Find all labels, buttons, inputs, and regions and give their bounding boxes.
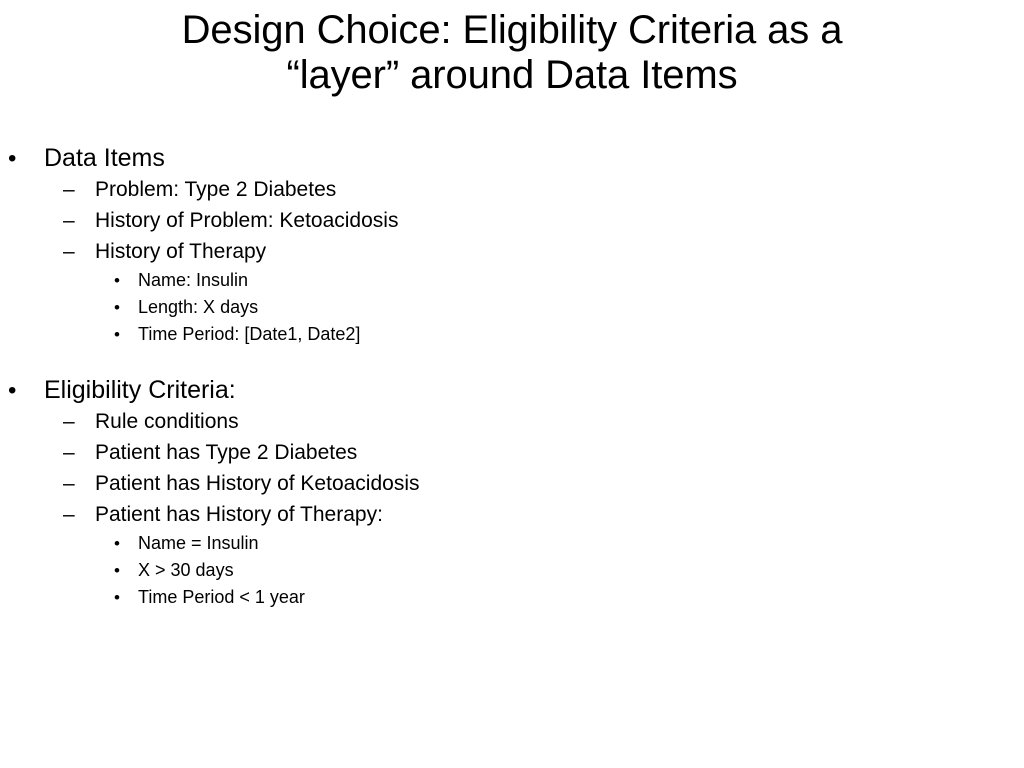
outline-item-level3: • X > 30 days (0, 557, 1024, 584)
bullet-dash-icon: – (63, 174, 95, 205)
bullet-dot-icon: • (8, 143, 44, 174)
outline-item-label: Rule conditions (95, 406, 239, 437)
bullet-dash-icon: – (63, 468, 95, 499)
outline-item-level1: • Eligibility Criteria: (0, 375, 1024, 406)
outline-item-level3: • Time Period: [Date1, Date2] (0, 321, 1024, 348)
outline-item-label: Data Items (44, 143, 165, 174)
outline-group-eligibility-criteria: • Eligibility Criteria: – Rule condition… (0, 375, 1024, 611)
outline-item-level3: • Name = Insulin (0, 530, 1024, 557)
outline-item-label: Eligibility Criteria: (44, 375, 236, 406)
outline-item-level2: – Rule conditions (0, 406, 1024, 437)
outline-group-data-items: • Data Items – Problem: Type 2 Diabetes … (0, 143, 1024, 348)
outline-item-label: History of Therapy (95, 236, 266, 267)
outline-item-label: X > 30 days (138, 557, 234, 584)
title-line-2: “layer” around Data Items (0, 53, 1024, 98)
outline-item-label: Length: X days (138, 294, 258, 321)
bullet-dash-icon: – (63, 236, 95, 267)
outline-item-level1: • Data Items (0, 143, 1024, 174)
outline-group-spacer (0, 348, 1024, 375)
bullet-dot-icon: • (114, 267, 138, 294)
slide-title: Design Choice: Eligibility Criteria as a… (0, 8, 1024, 98)
outline-item-label: Patient has History of Ketoacidosis (95, 468, 420, 499)
bullet-dot-icon: • (114, 557, 138, 584)
title-line-1: Design Choice: Eligibility Criteria as a (0, 8, 1024, 53)
outline-item-label: Patient has Type 2 Diabetes (95, 437, 357, 468)
outline-item-label: Problem: Type 2 Diabetes (95, 174, 336, 205)
bullet-dash-icon: – (63, 499, 95, 530)
outline-item-label: Time Period < 1 year (138, 584, 305, 611)
outline-item-label: Name: Insulin (138, 267, 248, 294)
bullet-dot-icon: • (8, 375, 44, 406)
outline-item-level2: – History of Therapy (0, 236, 1024, 267)
bullet-dash-icon: – (63, 406, 95, 437)
bullet-dot-icon: • (114, 321, 138, 348)
outline-item-level2: – Patient has Type 2 Diabetes (0, 437, 1024, 468)
outline-item-level2: – Problem: Type 2 Diabetes (0, 174, 1024, 205)
bullet-dot-icon: • (114, 584, 138, 611)
bullet-dash-icon: – (63, 437, 95, 468)
outline-item-level3: • Time Period < 1 year (0, 584, 1024, 611)
bullet-dash-icon: – (63, 205, 95, 236)
outline-item-level2: – Patient has History of Ketoacidosis (0, 468, 1024, 499)
outline-item-label: Name = Insulin (138, 530, 259, 557)
outline-item-level3: • Length: X days (0, 294, 1024, 321)
outline-item-level3: • Name: Insulin (0, 267, 1024, 294)
outline-item-level2: – History of Problem: Ketoacidosis (0, 205, 1024, 236)
outline-item-level2: – Patient has History of Therapy: (0, 499, 1024, 530)
outline-item-label: Patient has History of Therapy: (95, 499, 383, 530)
outline-item-label: History of Problem: Ketoacidosis (95, 205, 398, 236)
slide-canvas: Design Choice: Eligibility Criteria as a… (0, 0, 1024, 768)
bullet-dot-icon: • (114, 530, 138, 557)
bullet-dot-icon: • (114, 294, 138, 321)
outline-item-label: Time Period: [Date1, Date2] (138, 321, 360, 348)
slide-body-outline: • Data Items – Problem: Type 2 Diabetes … (0, 143, 1024, 611)
